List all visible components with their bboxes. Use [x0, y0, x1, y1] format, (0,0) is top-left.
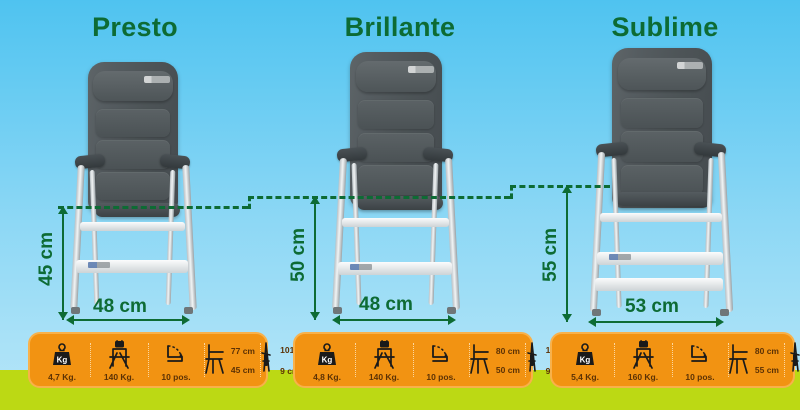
spec-weight-label: 4,8 Kg. — [313, 372, 341, 383]
width-measure-sublime — [592, 321, 722, 323]
chair-folded-icon — [786, 341, 800, 380]
svg-text:Kg: Kg — [322, 355, 333, 364]
measure-arrow-right — [716, 317, 724, 327]
brand-logo-icon — [144, 76, 170, 83]
product-comparison-graphic: Presto Brillante Sublime — [0, 0, 800, 410]
chair-leg-right — [445, 158, 460, 310]
width-label-brillante: 48 cm — [359, 294, 413, 316]
backrest-pad — [358, 165, 433, 194]
measure-arrow-left — [66, 315, 74, 325]
svg-text:Kg: Kg — [57, 355, 68, 364]
measure-arrow-down — [562, 314, 572, 322]
spec-positions: 10 pos. — [148, 337, 204, 383]
width-measure-brillante — [336, 319, 454, 321]
spec-panel-presto: Kg 4,7 Kg. 140 Kg. — [28, 332, 268, 388]
chair-leg-left — [332, 158, 347, 310]
brand-logo-icon — [677, 62, 703, 69]
spec-max-load: 160 Kg. — [614, 337, 672, 383]
brand-logo-icon — [408, 66, 434, 73]
seat-height-label-presto: 45 cm — [36, 232, 58, 286]
recline-positions-icon — [164, 337, 188, 372]
spec-side-view-value: 50 cm — [496, 365, 520, 375]
spec-folded: 115 cm 9,5 cm — [784, 337, 800, 383]
chair-load-icon — [106, 337, 132, 372]
seat-height-measure-presto — [62, 206, 64, 320]
chair-foot-right — [720, 309, 729, 316]
weight-kg-icon: Kg — [316, 337, 338, 372]
measure-arrow-up — [58, 206, 68, 214]
spec-weight-label: 4,7 Kg. — [48, 372, 76, 383]
spec-positions: 10 pos. — [672, 337, 728, 383]
width-measure-presto — [70, 319, 188, 321]
spec-weight: Kg 5,4 Kg. — [556, 337, 614, 383]
chair-side-view-icon — [468, 341, 494, 380]
seat-level-line-brillante — [248, 196, 510, 199]
measure-arrow-up — [562, 185, 572, 193]
weight-kg-icon: Kg — [574, 337, 596, 372]
chair-foot-right — [447, 307, 456, 314]
measure-arrow-right — [182, 315, 190, 325]
frame-brand-logo-icon — [88, 262, 110, 268]
width-label-sublime: 53 cm — [625, 296, 679, 318]
chair-foot-left — [333, 307, 342, 314]
chair-backrest — [88, 62, 178, 212]
seat-level-line-sublime — [510, 185, 610, 188]
seat-height-label-brillante: 50 cm — [288, 228, 310, 282]
chair-folded-icon — [257, 341, 275, 380]
recline-positions-icon — [429, 337, 453, 372]
spec-max-load-label: 140 Kg. — [104, 372, 134, 383]
frame-brand-logo-icon — [350, 264, 372, 270]
chair-foot-left — [71, 307, 80, 314]
spec-side-view-value: 77 cm — [231, 346, 255, 356]
backrest-pad — [621, 131, 703, 161]
spec-max-load: 140 Kg. — [355, 337, 413, 383]
svg-text:Kg: Kg — [580, 355, 591, 364]
seat-height-label-sublime: 55 cm — [540, 228, 562, 282]
chair-folded-icon — [523, 341, 541, 380]
backrest-pad — [358, 100, 433, 129]
spec-side-view-value: 45 cm — [231, 365, 255, 375]
chair-load-icon — [371, 337, 397, 372]
spec-panel-sublime: Kg 5,4 Kg. 160 Kg. — [550, 332, 795, 388]
chair-cross-rail-upper — [600, 213, 722, 222]
spec-side-view-value: 55 cm — [755, 365, 779, 375]
spec-max-load-label: 140 Kg. — [369, 372, 399, 383]
spec-side-view: 77 cm 45 cm — [204, 337, 260, 383]
spec-positions-label: 10 pos. — [426, 372, 455, 383]
backrest-pad — [96, 140, 170, 169]
chair-seat — [616, 192, 711, 206]
chair-foot-right — [184, 307, 193, 314]
chair-side-view-icon — [727, 341, 753, 380]
chair-leg-left — [70, 165, 85, 310]
spec-side-view-value: 80 cm — [496, 346, 520, 356]
width-label-presto: 48 cm — [93, 296, 147, 318]
spec-positions-label: 10 pos. — [685, 372, 714, 383]
spec-weight-label: 5,4 Kg. — [571, 372, 599, 383]
spec-side-view: 80 cm 50 cm — [469, 337, 525, 383]
chair-cross-rail-upper — [342, 218, 449, 227]
chair-load-icon — [630, 337, 656, 372]
backrest-pad — [358, 133, 433, 162]
seat-level-line-presto — [58, 206, 248, 209]
measure-arrow-down — [310, 312, 320, 320]
backrest-pad — [96, 109, 170, 138]
chair-foot-left — [592, 309, 601, 316]
spec-weight: Kg 4,8 Kg. — [299, 337, 355, 383]
spec-panel-brillante: Kg 4,8 Kg. 140 Kg. — [293, 332, 533, 388]
spec-positions-label: 10 pos. — [161, 372, 190, 383]
measure-arrow-left — [332, 315, 340, 325]
spec-positions: 10 pos. — [413, 337, 469, 383]
measure-arrow-left — [588, 317, 596, 327]
seat-height-measure-sublime — [566, 185, 568, 322]
chair-backrest — [350, 52, 442, 207]
measure-arrow-up — [310, 196, 320, 204]
backrest-pad — [621, 98, 703, 128]
chair-side-view-icon — [203, 341, 229, 380]
seat-height-measure-brillante — [314, 196, 316, 320]
chair-cross-rail-lower — [595, 278, 723, 291]
weight-kg-icon: Kg — [51, 337, 73, 372]
backrest-pad — [96, 172, 170, 201]
chair-illustration-sublime — [530, 0, 800, 330]
spec-max-load: 140 Kg. — [90, 337, 148, 383]
chair-cross-rail-upper — [80, 222, 185, 231]
recline-positions-icon — [688, 337, 712, 372]
backrest-pad — [621, 165, 703, 195]
measure-arrow-right — [448, 315, 456, 325]
spec-side-view-value: 80 cm — [755, 346, 779, 356]
spec-side-view: 80 cm 55 cm — [728, 337, 784, 383]
chair-backrest — [612, 48, 712, 208]
chair-leg-right — [182, 165, 197, 310]
spec-weight: Kg 4,7 Kg. — [34, 337, 90, 383]
spec-max-load-label: 160 Kg. — [628, 372, 658, 383]
frame-brand-logo-icon — [609, 254, 631, 260]
